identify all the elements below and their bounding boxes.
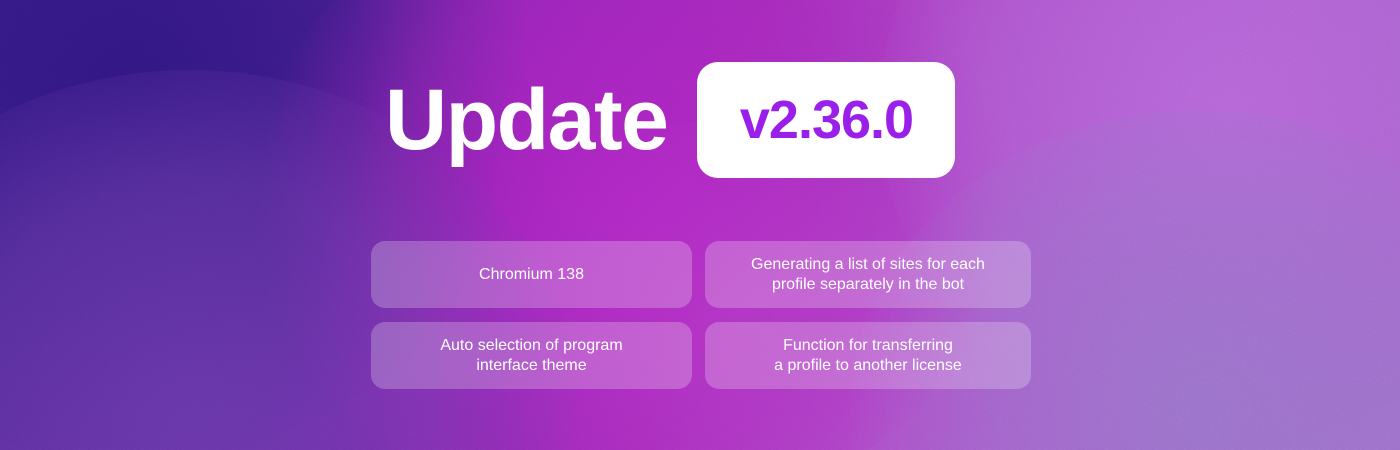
banner-content: Update v2.36.0 Chromium 138 Generating a…: [0, 0, 1400, 450]
feature-card-chromium[interactable]: Chromium 138: [371, 241, 692, 308]
page-title: Update: [371, 77, 667, 163]
feature-cards-grid: Chromium 138 Generating a list of sites …: [371, 241, 1031, 389]
update-announcement-banner: Update v2.36.0 Chromium 138 Generating a…: [0, 0, 1400, 450]
feature-card-label: Chromium 138: [479, 265, 584, 285]
version-badge: v2.36.0: [697, 62, 955, 178]
feature-card-label: Generating a list of sites for each prof…: [751, 255, 985, 295]
headline-row: Update v2.36.0: [371, 62, 1031, 178]
feature-card-site-list[interactable]: Generating a list of sites for each prof…: [705, 241, 1031, 308]
feature-card-label: Auto selection of program interface them…: [440, 336, 622, 376]
feature-card-theme[interactable]: Auto selection of program interface them…: [371, 322, 692, 389]
feature-card-label: Function for transferring a profile to a…: [774, 336, 962, 376]
version-badge-label: v2.36.0: [740, 93, 913, 147]
feature-card-profile-transfer[interactable]: Function for transferring a profile to a…: [705, 322, 1031, 389]
